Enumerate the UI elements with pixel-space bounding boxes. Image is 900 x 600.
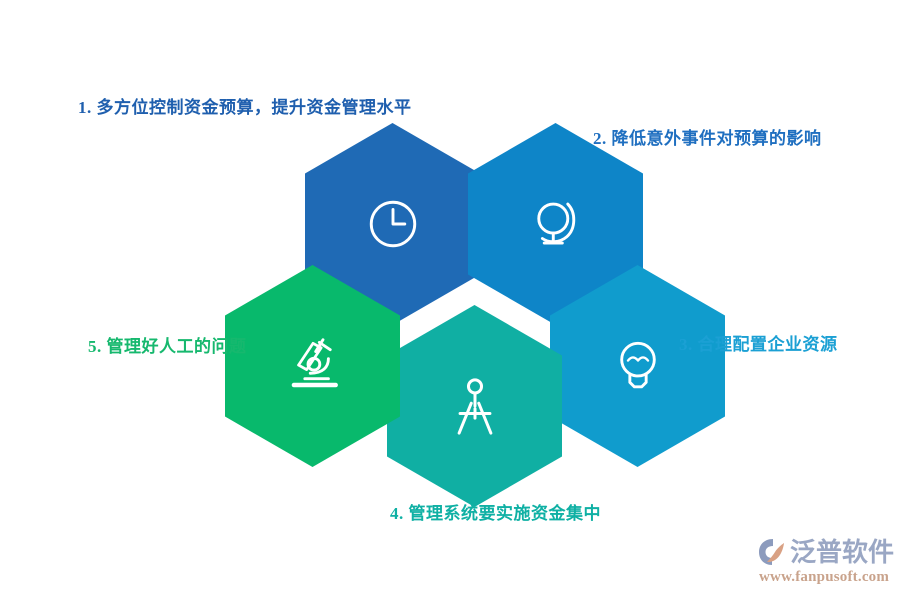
hexagon-petal-4[interactable] — [387, 305, 562, 507]
brand-logo-row: 泛普软件 — [757, 534, 895, 570]
petal-label-4: 4. 管理系统要实施资金集中 — [390, 499, 601, 524]
brand-logo[interactable]: 泛普软件 www.fanpusoft.com — [757, 534, 895, 592]
petal-label-3: 3. 合理配置企业资源 — [679, 330, 838, 355]
globe-icon — [527, 195, 585, 253]
microscope-icon — [283, 337, 343, 395]
fanpu-swoosh-logo-mark-icon — [757, 537, 787, 567]
infographic-canvas: 1. 多方位控制资金预算，提升资金管理水平 2. 降低意外事件对预算的影响 3.… — [0, 0, 900, 600]
hexagon-cluster — [275, 115, 675, 505]
brand-name: 泛普软件 — [790, 537, 894, 567]
petal-label-2: 2. 降低意外事件对预算的影响 — [593, 124, 822, 149]
clock-icon — [364, 195, 422, 253]
petal-label-5: 5. 管理好人工的问题 — [88, 332, 247, 357]
lightbulb-icon — [612, 337, 664, 395]
petal-label-1: 1. 多方位控制资金预算，提升资金管理水平 — [78, 93, 412, 118]
brand-url: www.fanpusoft.com — [757, 569, 895, 586]
compass-divider-icon — [447, 375, 503, 437]
